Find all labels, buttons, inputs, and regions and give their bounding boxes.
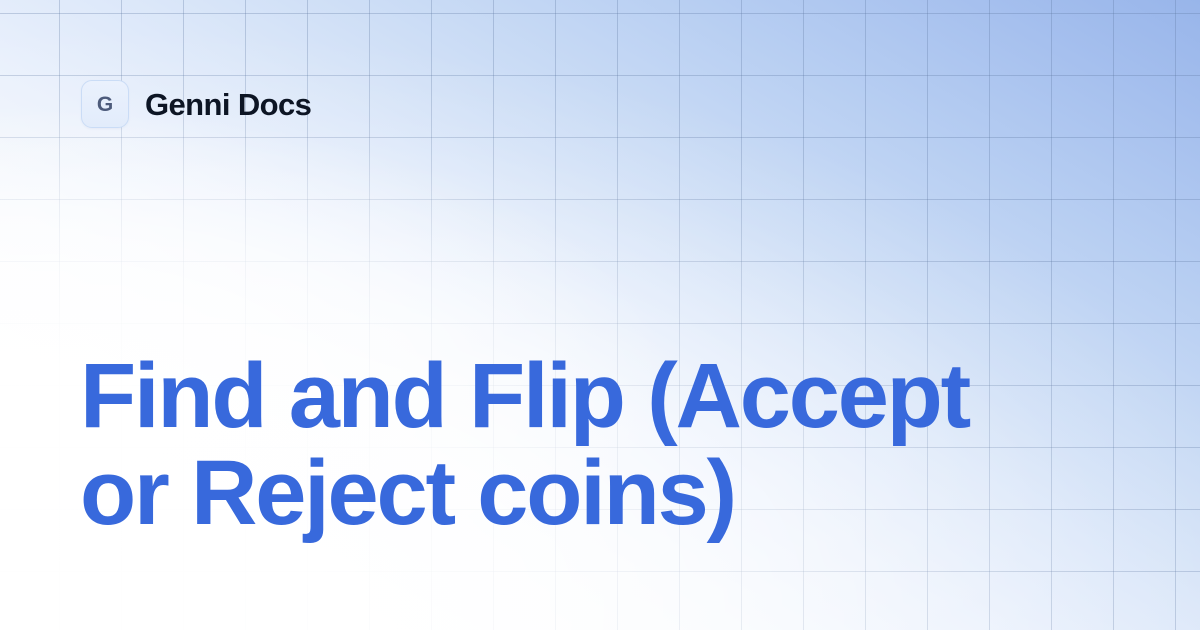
brand-lockup: G Genni Docs <box>81 80 311 128</box>
brand-name-label: Genni Docs <box>145 89 311 120</box>
brand-logo-letter-icon: G <box>97 94 113 115</box>
brand-logo-badge: G <box>81 80 129 128</box>
page-title: Find and Flip (Accept or Reject coins) <box>80 348 1080 542</box>
content-layer: G Genni Docs Find and Flip (Accept or Re… <box>0 0 1200 630</box>
og-image-canvas: G Genni Docs Find and Flip (Accept or Re… <box>0 0 1200 630</box>
